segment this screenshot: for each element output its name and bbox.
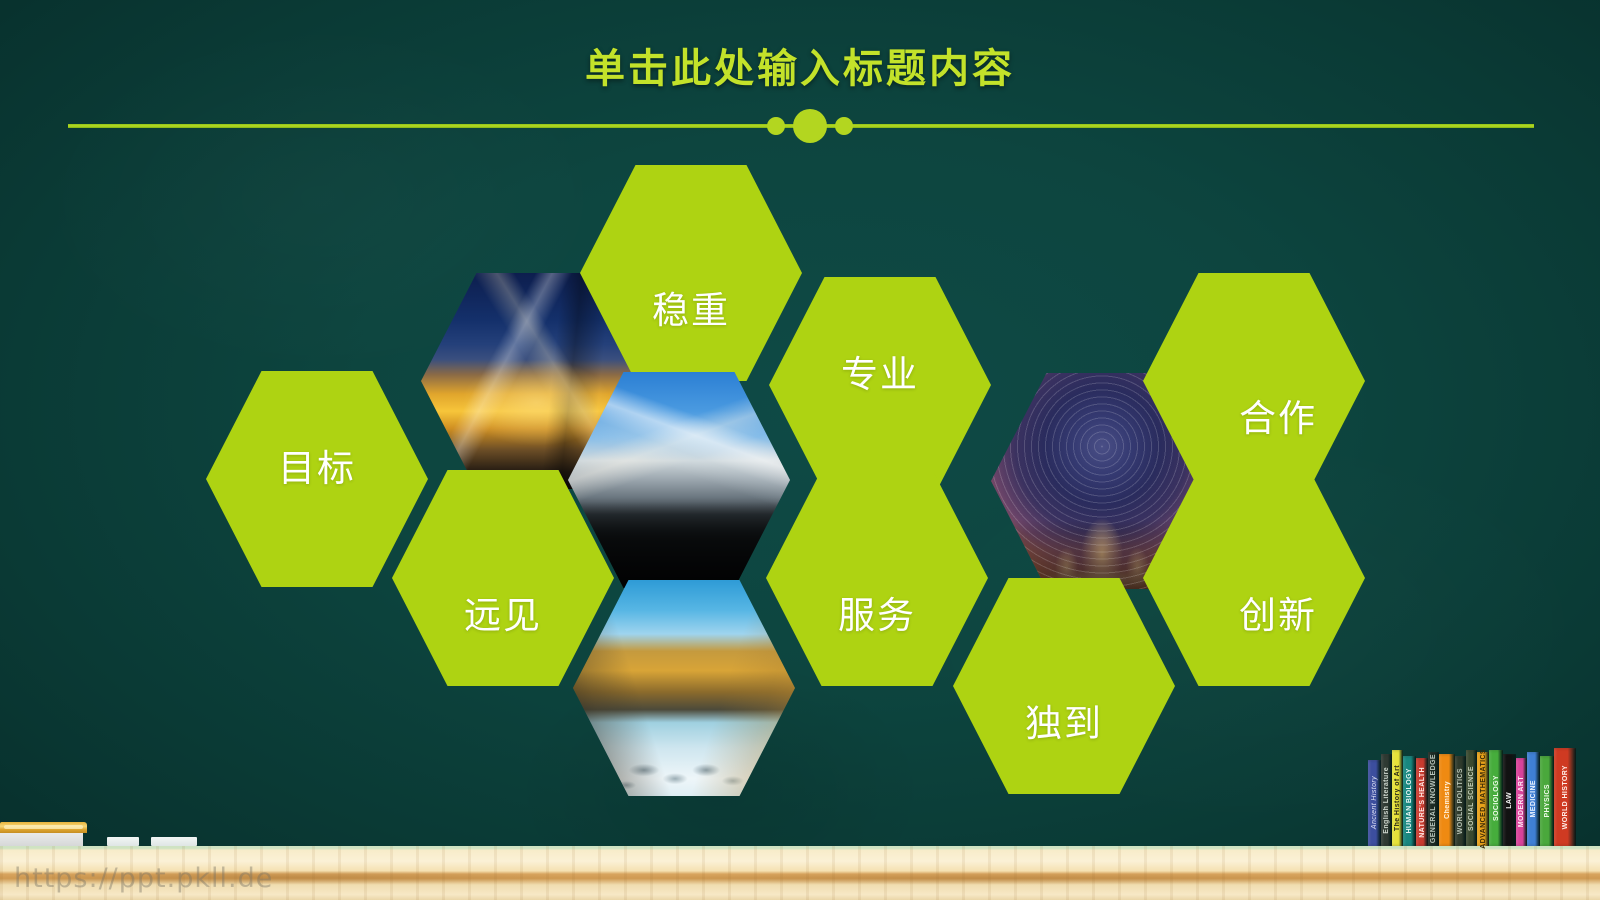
hex-cell-unique[interactable]: 独到 [953,578,1175,794]
book-spine: LAW [1503,754,1516,846]
book-spine: GENERAL KNOWLEDGE [1428,752,1439,846]
eraser-felt [0,833,83,846]
book-spine: MEDICINE [1527,752,1540,846]
chalk-stick-2[interactable] [151,837,197,846]
hex-label-innovation: 创新 [1239,585,1317,639]
book-spine: MODERN ART [1516,758,1527,846]
hex-label-vision: 远见 [464,585,542,639]
hex-cell-professional[interactable]: 专业 [769,277,991,493]
book-title: PHYSICS [1544,784,1551,818]
book-title: SOCIAL SCIENCE [1468,766,1475,831]
book-title: NATURE'S HEALTH [1419,767,1426,838]
book-spine: WORLD HISTORY [1554,748,1576,846]
hex-cell-service[interactable]: 服务 [766,470,988,686]
chalk-stick-1[interactable] [107,837,139,846]
book-title: WORLD POLITICS [1457,768,1464,834]
book-spine: SOCIAL SCIENCE [1466,750,1477,846]
canyon-lake-photo [573,580,795,796]
hex-cell-photo-canyon-lake[interactable] [573,580,795,796]
page-title: 单击此处输入标题内容 [0,36,1600,94]
book-title: The History of Art [1394,765,1401,831]
book-title: Ancient History [1371,776,1378,829]
book-title: HUMAN BIOLOGY [1406,768,1413,833]
title-divider [68,112,1534,140]
book-spine: English Literature [1381,754,1392,846]
book-spine: NATURE'S HEALTH [1416,758,1428,846]
book-title: ADVANCED MATHEMATICS [1480,749,1487,849]
book-title: English Literature [1383,767,1390,834]
book-spine: The History of Art [1392,750,1403,846]
hex-label-steady: 稳重 [652,280,730,334]
divider-dot-right [835,117,853,135]
book-spine: PHYSICS [1540,756,1554,846]
book-spine: ADVANCED MATHEMATICS [1477,752,1489,846]
book-title: WORLD HISTORY [1562,765,1569,829]
book-spine: HUMAN BIOLOGY [1403,756,1416,846]
hex-label-unique: 独到 [1025,693,1103,747]
book-spine: SOCIOLOGY [1489,750,1503,846]
bookshelf: Ancient HistoryEnglish LiteratureThe His… [1368,738,1600,846]
eraser-handle [0,822,87,833]
divider-dot-left [767,117,785,135]
hex-label-service: 服务 [838,585,916,639]
blackboard-eraser[interactable] [0,822,87,846]
book-spine: Ancient History [1368,760,1381,846]
slide-canvas: 单击此处输入标题内容 目标 远见 稳重 [0,0,1600,900]
book-spine: WORLD POLITICS [1455,756,1466,846]
book-title: SOCIOLOGY [1493,775,1500,821]
book-title: GENERAL KNOWLEDGE [1430,754,1437,843]
hex-label-cooperation: 合作 [1239,388,1317,442]
book-title: MODERN ART [1518,776,1525,827]
book-title: LAW [1506,792,1513,809]
hex-label-professional: 专业 [841,344,919,398]
hex-label-goal: 目标 [278,438,356,492]
book-title: Chemistry [1444,781,1451,819]
book-title: MEDICINE [1530,780,1537,817]
hex-cell-goal[interactable]: 目标 [206,371,428,587]
book-spine: Chemistry [1439,754,1455,846]
watermark-url: https://ppt.pkll.de [14,863,273,894]
divider-dot-center [793,109,827,143]
